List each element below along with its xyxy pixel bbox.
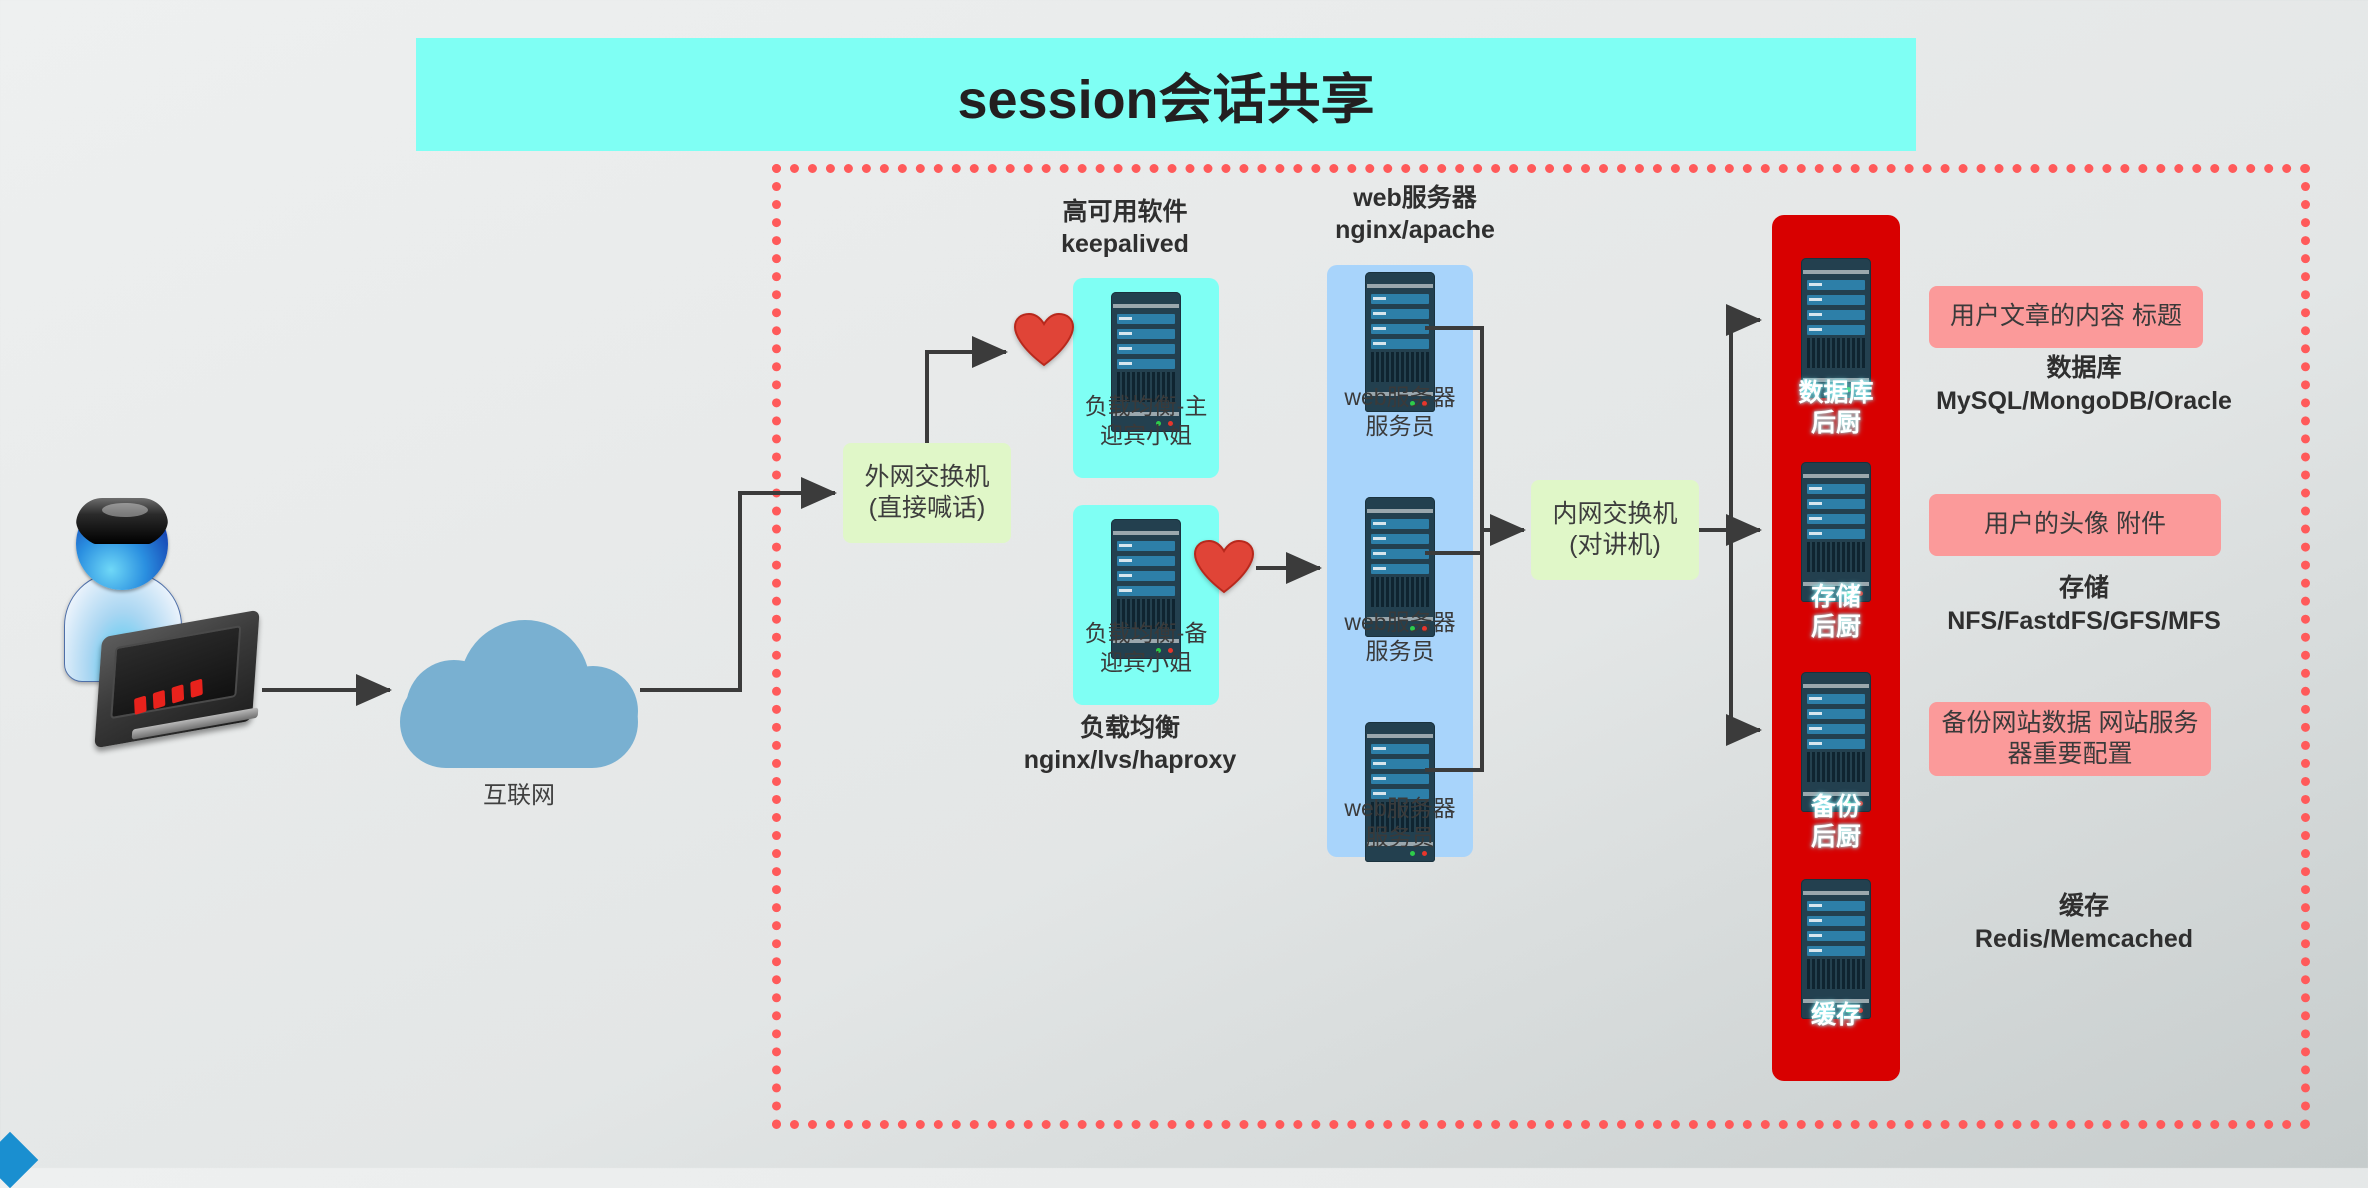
rack-drive: [1807, 931, 1865, 941]
backup-label-line1: 备份: [1772, 792, 1900, 822]
rack-drive: [1371, 534, 1429, 544]
web-server-3-line2: 服务员: [1317, 823, 1483, 852]
storage-server-icon: [1801, 462, 1871, 602]
web-header-line2: nginx/apache: [1290, 214, 1540, 246]
cache-tech-note: 缓存 Redis/Memcached: [1908, 890, 2260, 955]
cache-node-label: 缓存: [1772, 1000, 1900, 1030]
backup-server-icon: [1801, 672, 1871, 812]
database-server-icon: [1801, 258, 1871, 398]
web-column-header: web服务器 nginx/apache: [1290, 182, 1540, 246]
rack-drive-rows: [1807, 694, 1865, 749]
rack-drive: [1371, 744, 1429, 754]
rack-top-bar: [1803, 474, 1869, 478]
rack-drive: [1807, 916, 1865, 926]
cloud-base: [400, 676, 638, 768]
internal-switch-line2: (对讲机): [1569, 530, 1661, 561]
avatar-hair-highlight: [102, 503, 148, 517]
rack-drive: [1807, 280, 1865, 290]
keepalived-column-header: 高可用软件 keepalived: [1000, 196, 1250, 260]
rack-drive: [1807, 724, 1865, 734]
storage-label-line1: 存储: [1772, 582, 1900, 612]
loadbalancer-footer-line1: 负载均衡: [970, 712, 1290, 744]
rack-drive: [1807, 901, 1865, 911]
rack-drive: [1807, 694, 1865, 704]
rack-drive-rows: [1117, 541, 1175, 596]
rack-vent: [1807, 338, 1865, 368]
rack-vent: [1371, 352, 1429, 382]
internal-switch-line1: 内网交换机: [1552, 499, 1677, 530]
rack-top-bar: [1803, 684, 1869, 688]
loadbalancer-master-label: 负载均衡-主 迎宾小姐: [1063, 392, 1229, 450]
loadbalancer-backup-label: 负载均衡-备 迎宾小姐: [1063, 619, 1229, 677]
cache-label-line1: 缓存: [1772, 1000, 1900, 1030]
rack-vent: [1371, 577, 1429, 607]
corner-accent: [0, 1132, 38, 1188]
lb-master-line1: 负载均衡-主: [1063, 392, 1229, 421]
rack-drive: [1807, 739, 1865, 749]
database-label-line2: 后厨: [1772, 408, 1900, 438]
rack-drive: [1117, 344, 1175, 354]
rack-top-bar: [1367, 509, 1433, 513]
storage-tech-note: 存储 NFS/FastdFS/GFS/MFS: [1908, 572, 2260, 637]
rack-drive: [1807, 946, 1865, 956]
rack-drive: [1117, 541, 1175, 551]
external-switch-node[interactable]: 外网交换机 (直接喊话): [843, 443, 1011, 543]
rack-drive-rows: [1371, 294, 1429, 349]
heartbeat-icon: [1194, 540, 1254, 594]
database-label-line1: 数据库: [1772, 378, 1900, 408]
rack-drive: [1117, 556, 1175, 566]
database-tech-line1: 数据库: [1908, 352, 2260, 385]
backup-label-line2: 后厨: [1772, 822, 1900, 852]
rack-drive: [1371, 324, 1429, 334]
rack-drive: [1807, 709, 1865, 719]
web-server-1-line1: web服务器: [1317, 383, 1483, 412]
rack-drive: [1371, 759, 1429, 769]
rack-drive: [1117, 586, 1175, 596]
rack-drive: [1807, 514, 1865, 524]
web-server-2-line2: 服务员: [1317, 637, 1483, 666]
rack-vent: [1807, 959, 1865, 989]
rack-drive: [1807, 295, 1865, 305]
page-title: session会话共享: [957, 55, 1374, 134]
rack-vent: [1807, 752, 1865, 782]
heartbeat-icon: [1014, 313, 1074, 367]
rack-drive: [1117, 314, 1175, 324]
web-server-3-line1: web服务器: [1317, 794, 1483, 823]
title-banner: session会话共享: [416, 38, 1916, 151]
rack-vent: [1807, 542, 1865, 572]
rack-drive: [1371, 294, 1429, 304]
rack-drive: [1117, 571, 1175, 581]
cache-tech-line1: 缓存: [1908, 890, 2260, 923]
database-node-label: 数据库 后厨: [1772, 378, 1900, 438]
backup-node-label: 备份 后厨: [1772, 792, 1900, 852]
lb-backup-line1: 负载均衡-备: [1063, 619, 1229, 648]
rack-top-bar: [1367, 284, 1433, 288]
rack-drive-rows: [1807, 901, 1865, 956]
database-tech-note: 数据库 MySQL/MongoDB/Oracle: [1908, 352, 2260, 417]
database-tech-line2: MySQL/MongoDB/Oracle: [1908, 385, 2260, 418]
loadbalancer-footer-line2: nginx/lvs/haproxy: [970, 744, 1290, 776]
rack-drive: [1371, 564, 1429, 574]
rack-drive: [1807, 325, 1865, 335]
backup-callout: 备份网站数据 网站服务器重要配置: [1929, 702, 2211, 776]
lb-backup-line2: 迎宾小姐: [1063, 648, 1229, 677]
rack-drive: [1807, 310, 1865, 320]
internal-switch-node[interactable]: 内网交换机 (对讲机): [1531, 480, 1699, 580]
rack-drive: [1117, 359, 1175, 369]
rack-drive: [1371, 774, 1429, 784]
storage-label-line2: 后厨: [1772, 612, 1900, 642]
storage-tech-line1: 存储: [1908, 572, 2260, 605]
rack-drive-rows: [1371, 519, 1429, 574]
rack-top-bar: [1113, 531, 1179, 535]
external-switch-line2: (直接喊话): [869, 493, 986, 524]
rack-drive: [1371, 519, 1429, 529]
storage-callout: 用户的头像 附件: [1929, 494, 2221, 556]
rack-drive: [1807, 484, 1865, 494]
cache-tech-line2: Redis/Memcached: [1908, 923, 2260, 956]
web-server-1-label: web服务器 服务员: [1317, 383, 1483, 441]
rack-drive: [1371, 549, 1429, 559]
internet-cloud-icon: [398, 618, 640, 768]
web-server-1-line2: 服务员: [1317, 412, 1483, 441]
loadbalancer-column-footer: 负载均衡 nginx/lvs/haproxy: [970, 712, 1290, 776]
rack-top-bar: [1803, 891, 1869, 895]
database-callout: 用户文章的内容 标题: [1929, 286, 2203, 348]
rack-top-bar: [1113, 304, 1179, 308]
rack-drive: [1371, 309, 1429, 319]
web-server-2-line1: web服务器: [1317, 608, 1483, 637]
storage-tech-line2: NFS/FastdFS/GFS/MFS: [1908, 605, 2260, 638]
rack-drive-rows: [1807, 280, 1865, 335]
avatar-hair: [76, 498, 168, 544]
web-server-2-label: web服务器 服务员: [1317, 608, 1483, 666]
rack-drive: [1117, 329, 1175, 339]
rack-drive-rows: [1371, 744, 1429, 799]
rack-drive-rows: [1807, 484, 1865, 539]
rack-drive-rows: [1117, 314, 1175, 369]
rack-drive: [1371, 339, 1429, 349]
internet-label: 互联网: [398, 775, 640, 810]
rack-drive: [1807, 529, 1865, 539]
web-server-3-label: web服务器 服务员: [1317, 794, 1483, 852]
storage-node-label: 存储 后厨: [1772, 582, 1900, 642]
rack-top-bar: [1367, 734, 1433, 738]
rack-drive: [1807, 499, 1865, 509]
web-header-line1: web服务器: [1290, 182, 1540, 214]
cache-server-icon: [1801, 879, 1871, 1019]
external-switch-line1: 外网交换机: [864, 462, 989, 493]
keepalived-header-line2: keepalived: [1000, 228, 1250, 260]
rack-top-bar: [1803, 270, 1869, 274]
keepalived-header-line1: 高可用软件: [1000, 196, 1250, 228]
lb-master-line2: 迎宾小姐: [1063, 421, 1229, 450]
